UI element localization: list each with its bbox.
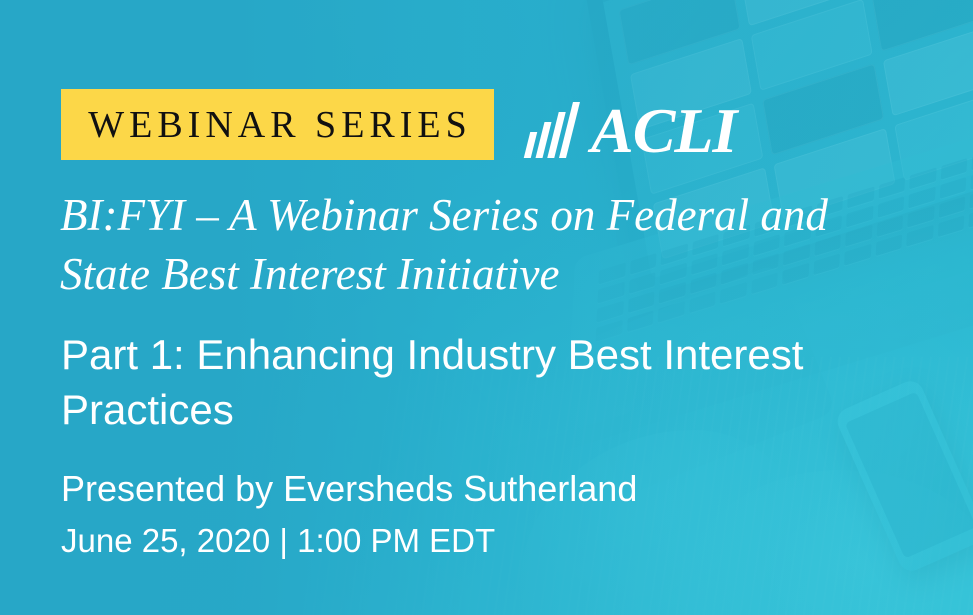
- datetime-line: June 25, 2020 | 1:00 PM EDT: [61, 521, 495, 561]
- acli-logo: ACLI: [527, 92, 736, 158]
- headline-line-1: BI:FYI – A Webinar Series on Federal and: [60, 186, 950, 245]
- webinar-series-badge-label: WEBINAR SERIES: [83, 106, 472, 144]
- subtitle-line-1: Part 1: Enhancing Industry Best Interest: [61, 327, 951, 382]
- presenter-line: Presented by Eversheds Sutherland: [61, 467, 637, 510]
- webinar-promo-slide: WEBINAR SERIES ACLI BI:FYI – A Webinar S…: [0, 0, 973, 615]
- headline-line-2: State Best Interest Initiative: [60, 245, 950, 304]
- webinar-series-badge: WEBINAR SERIES: [61, 89, 494, 160]
- slide-content: WEBINAR SERIES ACLI BI:FYI – A Webinar S…: [0, 0, 973, 615]
- acli-logo-text: ACLI: [591, 103, 736, 158]
- acli-slashes-icon: [527, 100, 589, 158]
- subtitle-line-2: Practices: [61, 382, 951, 437]
- session-subtitle: Part 1: Enhancing Industry Best Interest…: [61, 327, 951, 438]
- page-title: BI:FYI – A Webinar Series on Federal and…: [60, 186, 950, 303]
